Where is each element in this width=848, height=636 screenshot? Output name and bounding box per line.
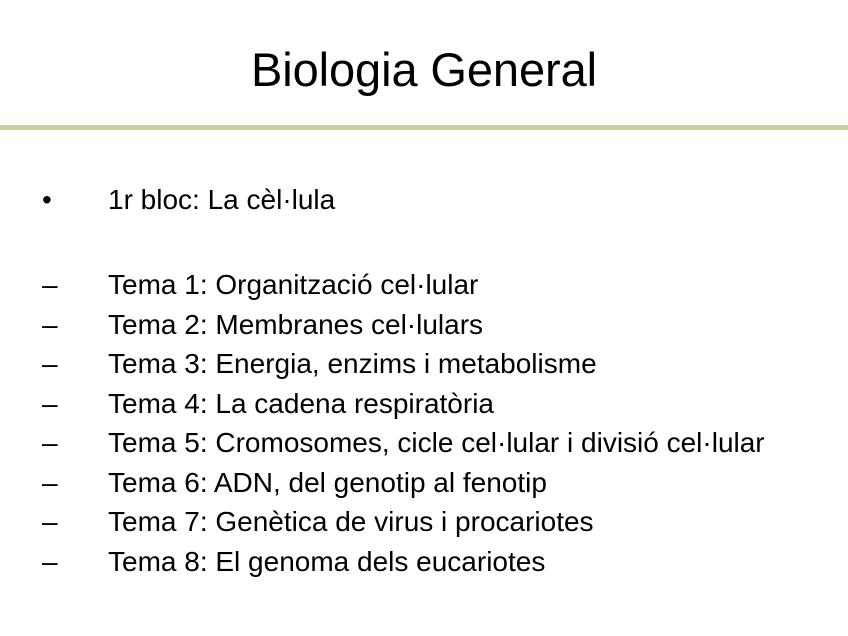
slide-title: Biologia General [0, 41, 848, 99]
dash-icon: – [0, 384, 150, 424]
list-spacer [0, 222, 848, 265]
list-item-block-heading: • 1r bloc: La cèl·lula [0, 178, 848, 222]
list-item: – Tema 5: Cromosomes, cicle cel·lular i … [0, 423, 848, 463]
dash-icon: – [0, 305, 150, 345]
list-item-label: Tema 2: Membranes cel·lulars [108, 305, 848, 345]
dash-icon: – [0, 265, 150, 305]
list-item: – Tema 8: El genoma dels eucariotes [0, 542, 848, 582]
list-item-label: 1r bloc: La cèl·lula [108, 178, 848, 222]
dash-icon: – [0, 423, 150, 463]
list-item: – Tema 7: Genètica de virus i procariote… [0, 502, 848, 542]
bullet-icon: • [0, 178, 150, 222]
list-item: – Tema 1: Organització cel·lular [0, 265, 848, 305]
dash-icon: – [0, 463, 150, 503]
list-item-label: Tema 1: Organització cel·lular [108, 265, 848, 305]
list-item-label: Tema 3: Energia, enzims i metabolisme [108, 344, 848, 384]
list-item-label: Tema 4: La cadena respiratòria [108, 384, 848, 424]
list-item: – Tema 2: Membranes cel·lulars [0, 305, 848, 345]
list-item-label: Tema 6: ADN, del genotip al fenotip [108, 463, 848, 503]
list-item-label: Tema 5: Cromosomes, cicle cel·lular i di… [108, 423, 848, 463]
title-divider-rule [0, 125, 848, 130]
dash-icon: – [0, 344, 150, 384]
dash-icon: – [0, 542, 150, 582]
list-item-label: Tema 8: El genoma dels eucariotes [108, 542, 848, 582]
list-item: – Tema 3: Energia, enzims i metabolisme [0, 344, 848, 384]
list-item: – Tema 4: La cadena respiratòria [0, 384, 848, 424]
presentation-slide: Biologia General • 1r bloc: La cèl·lula … [0, 0, 848, 636]
slide-body: • 1r bloc: La cèl·lula – Tema 1: Organit… [0, 178, 848, 581]
list-item-label: Tema 7: Genètica de virus i procariotes [108, 502, 848, 542]
list-item: – Tema 6: ADN, del genotip al fenotip [0, 463, 848, 503]
dash-icon: – [0, 502, 150, 542]
